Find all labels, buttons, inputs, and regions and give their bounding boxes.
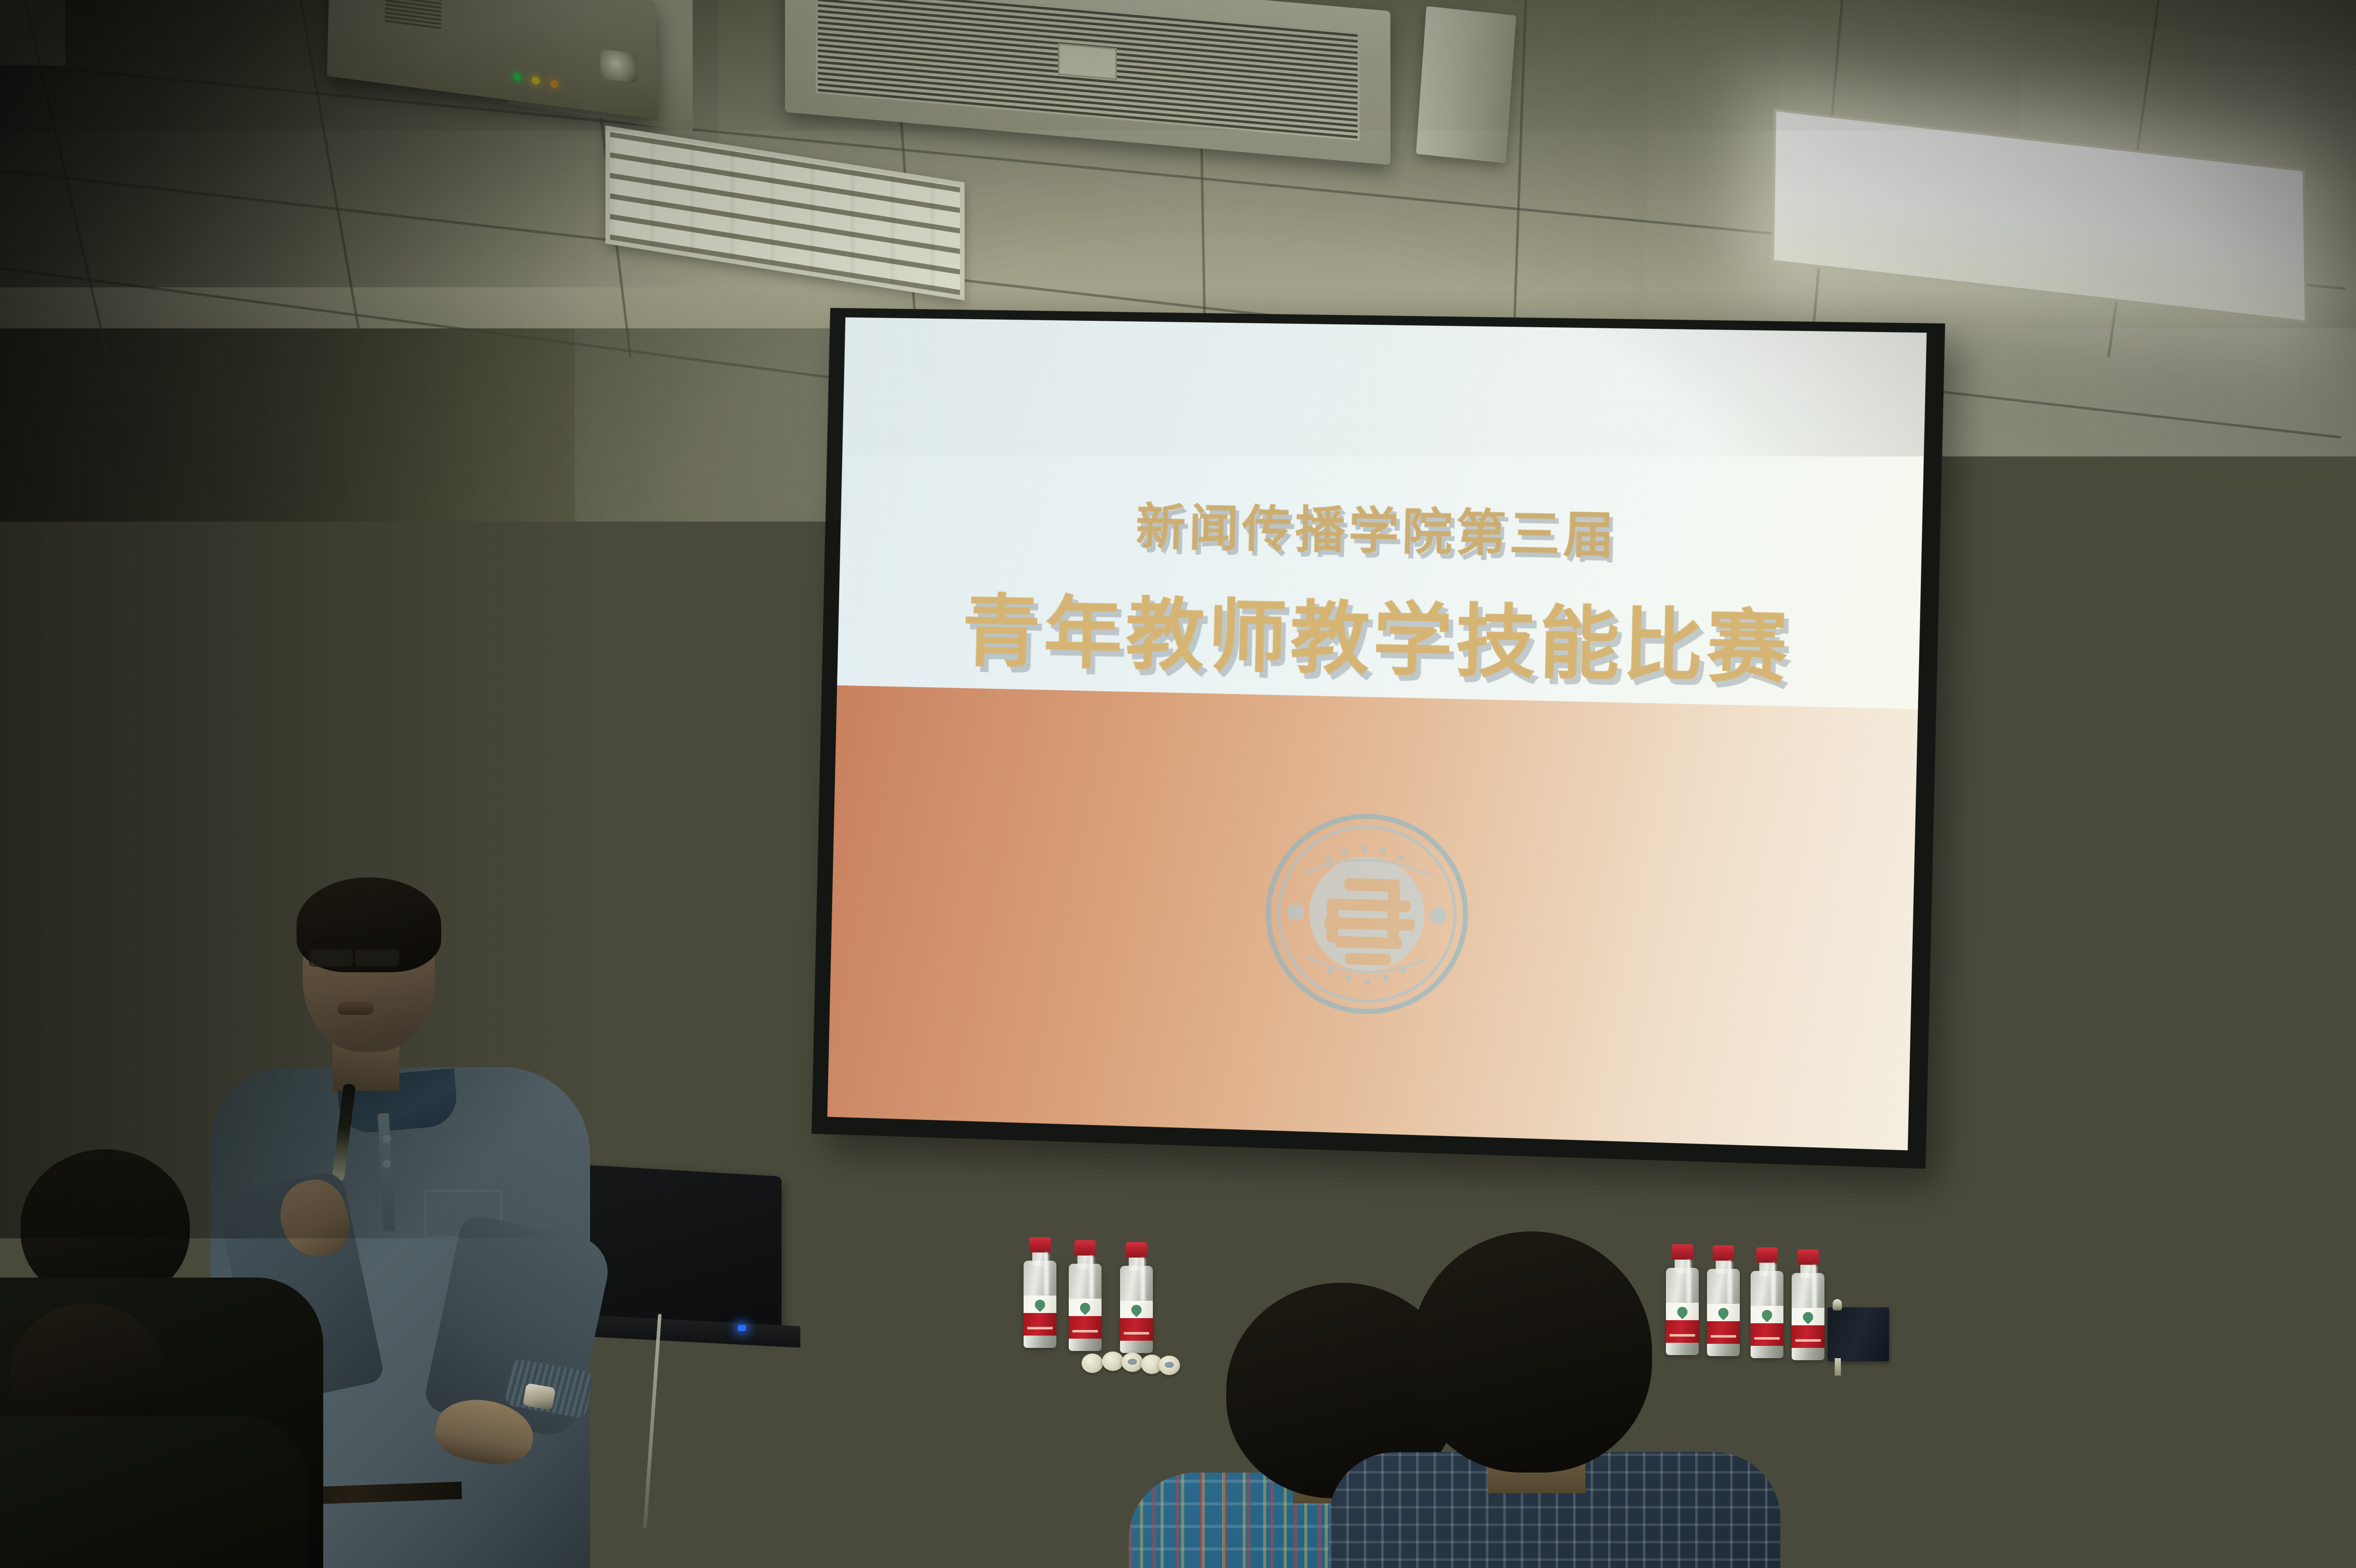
paper-cup[interactable] xyxy=(1122,1353,1143,1372)
eyeglasses-right-lens-icon xyxy=(355,949,399,967)
audience-member-check xyxy=(1344,1257,1744,1568)
projector-vent-grille xyxy=(385,0,442,29)
table-name-card-holder[interactable] xyxy=(1828,1307,1889,1361)
water-bottle[interactable] xyxy=(1069,1246,1102,1351)
projector-temp-led xyxy=(551,80,558,88)
wall-switch-plate-4[interactable] xyxy=(298,596,339,642)
lecture-hall-photo: 新闻传播学院第三届 青年教师教学技能比赛 xyxy=(0,0,2356,1568)
wall-switch-plate-3[interactable] xyxy=(257,595,298,641)
water-bottle[interactable] xyxy=(1792,1255,1824,1360)
audience-member-front-left-2 xyxy=(0,1303,298,1568)
eyeglasses-left-lens-icon xyxy=(309,949,353,967)
projection-screen: 新闻传播学院第三届 青年教师教学技能比赛 xyxy=(812,308,1945,1169)
projector-lens xyxy=(600,49,637,84)
water-bottle[interactable] xyxy=(1751,1253,1783,1358)
paper-cup[interactable] xyxy=(1102,1351,1124,1371)
right-wall xyxy=(1924,308,2356,1334)
water-bottle[interactable] xyxy=(1120,1248,1153,1353)
wall-socket-plate-1[interactable] xyxy=(154,593,198,640)
projector-power-led xyxy=(513,72,521,81)
projector-lamp-led xyxy=(532,76,539,85)
water-bottle[interactable] xyxy=(1024,1243,1056,1348)
paper-cup[interactable] xyxy=(1082,1354,1103,1373)
wall-socket-plate-2[interactable] xyxy=(198,594,242,641)
presenter-mouth xyxy=(338,1002,374,1015)
laptop-power-led xyxy=(738,1325,746,1331)
ac-center-plate xyxy=(1058,43,1117,80)
university-seal-icon xyxy=(1260,808,1474,1021)
slide-canvas: 新闻传播学院第三届 青年教师教学技能比赛 xyxy=(827,317,1927,1150)
slide-title: 青年教师教学技能比赛 xyxy=(837,565,1921,702)
ac-linear-vent xyxy=(1416,6,1516,163)
